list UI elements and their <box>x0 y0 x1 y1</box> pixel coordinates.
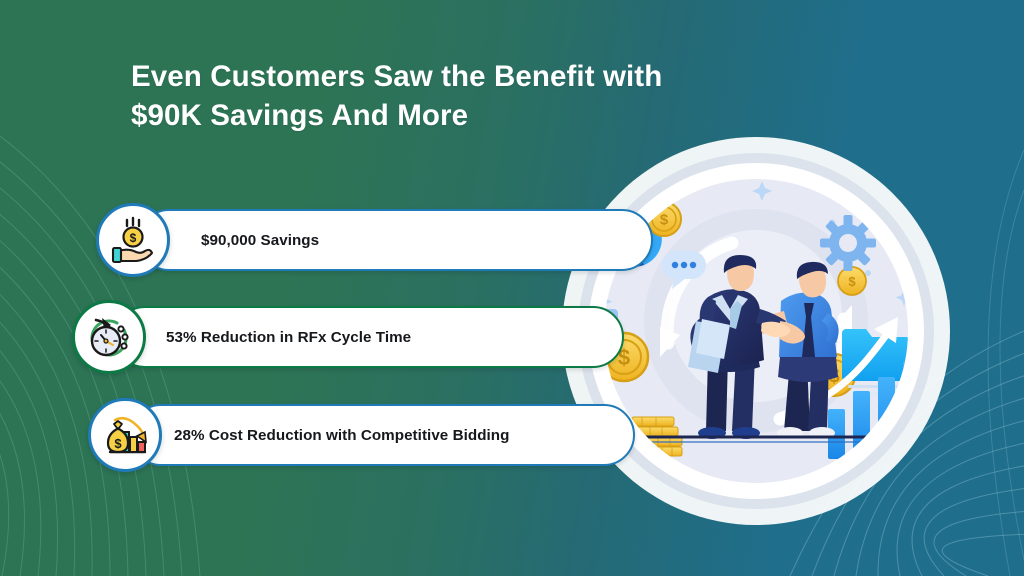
title-line-1: Even Customers Saw the Benefit with <box>131 57 851 96</box>
stat-card-pill[interactable]: 53% Reduction in RFx Cycle Time <box>114 306 624 368</box>
hand-holding-coin-icon: $ <box>96 203 170 277</box>
gold-coin-icon: $ <box>838 267 866 295</box>
stat-card-label: 28% Cost Reduction with Competitive Bidd… <box>174 427 509 444</box>
stopwatch-clock-icon <box>72 300 146 374</box>
stat-card-pill[interactable]: $90,000 Savings <box>138 209 653 271</box>
svg-text:$: $ <box>114 436 122 451</box>
svg-text:$: $ <box>130 231 137 245</box>
svg-text:$: $ <box>660 212 669 229</box>
stat-card-label: 53% Reduction in RFx Cycle Time <box>166 329 411 346</box>
stat-card-label: $90,000 Savings <box>201 232 319 249</box>
money-bag-declining-chart-icon: $ <box>88 398 162 472</box>
stat-card-pill[interactable]: 28% Cost Reduction with Competitive Bidd… <box>130 404 635 466</box>
svg-text:$: $ <box>848 274 856 289</box>
slide-title: Even Customers Saw the Benefit with $90K… <box>131 57 851 135</box>
slide-canvas: Even Customers Saw the Benefit with $90K… <box>0 0 1024 576</box>
title-line-2: $90K Savings And More <box>131 96 851 135</box>
